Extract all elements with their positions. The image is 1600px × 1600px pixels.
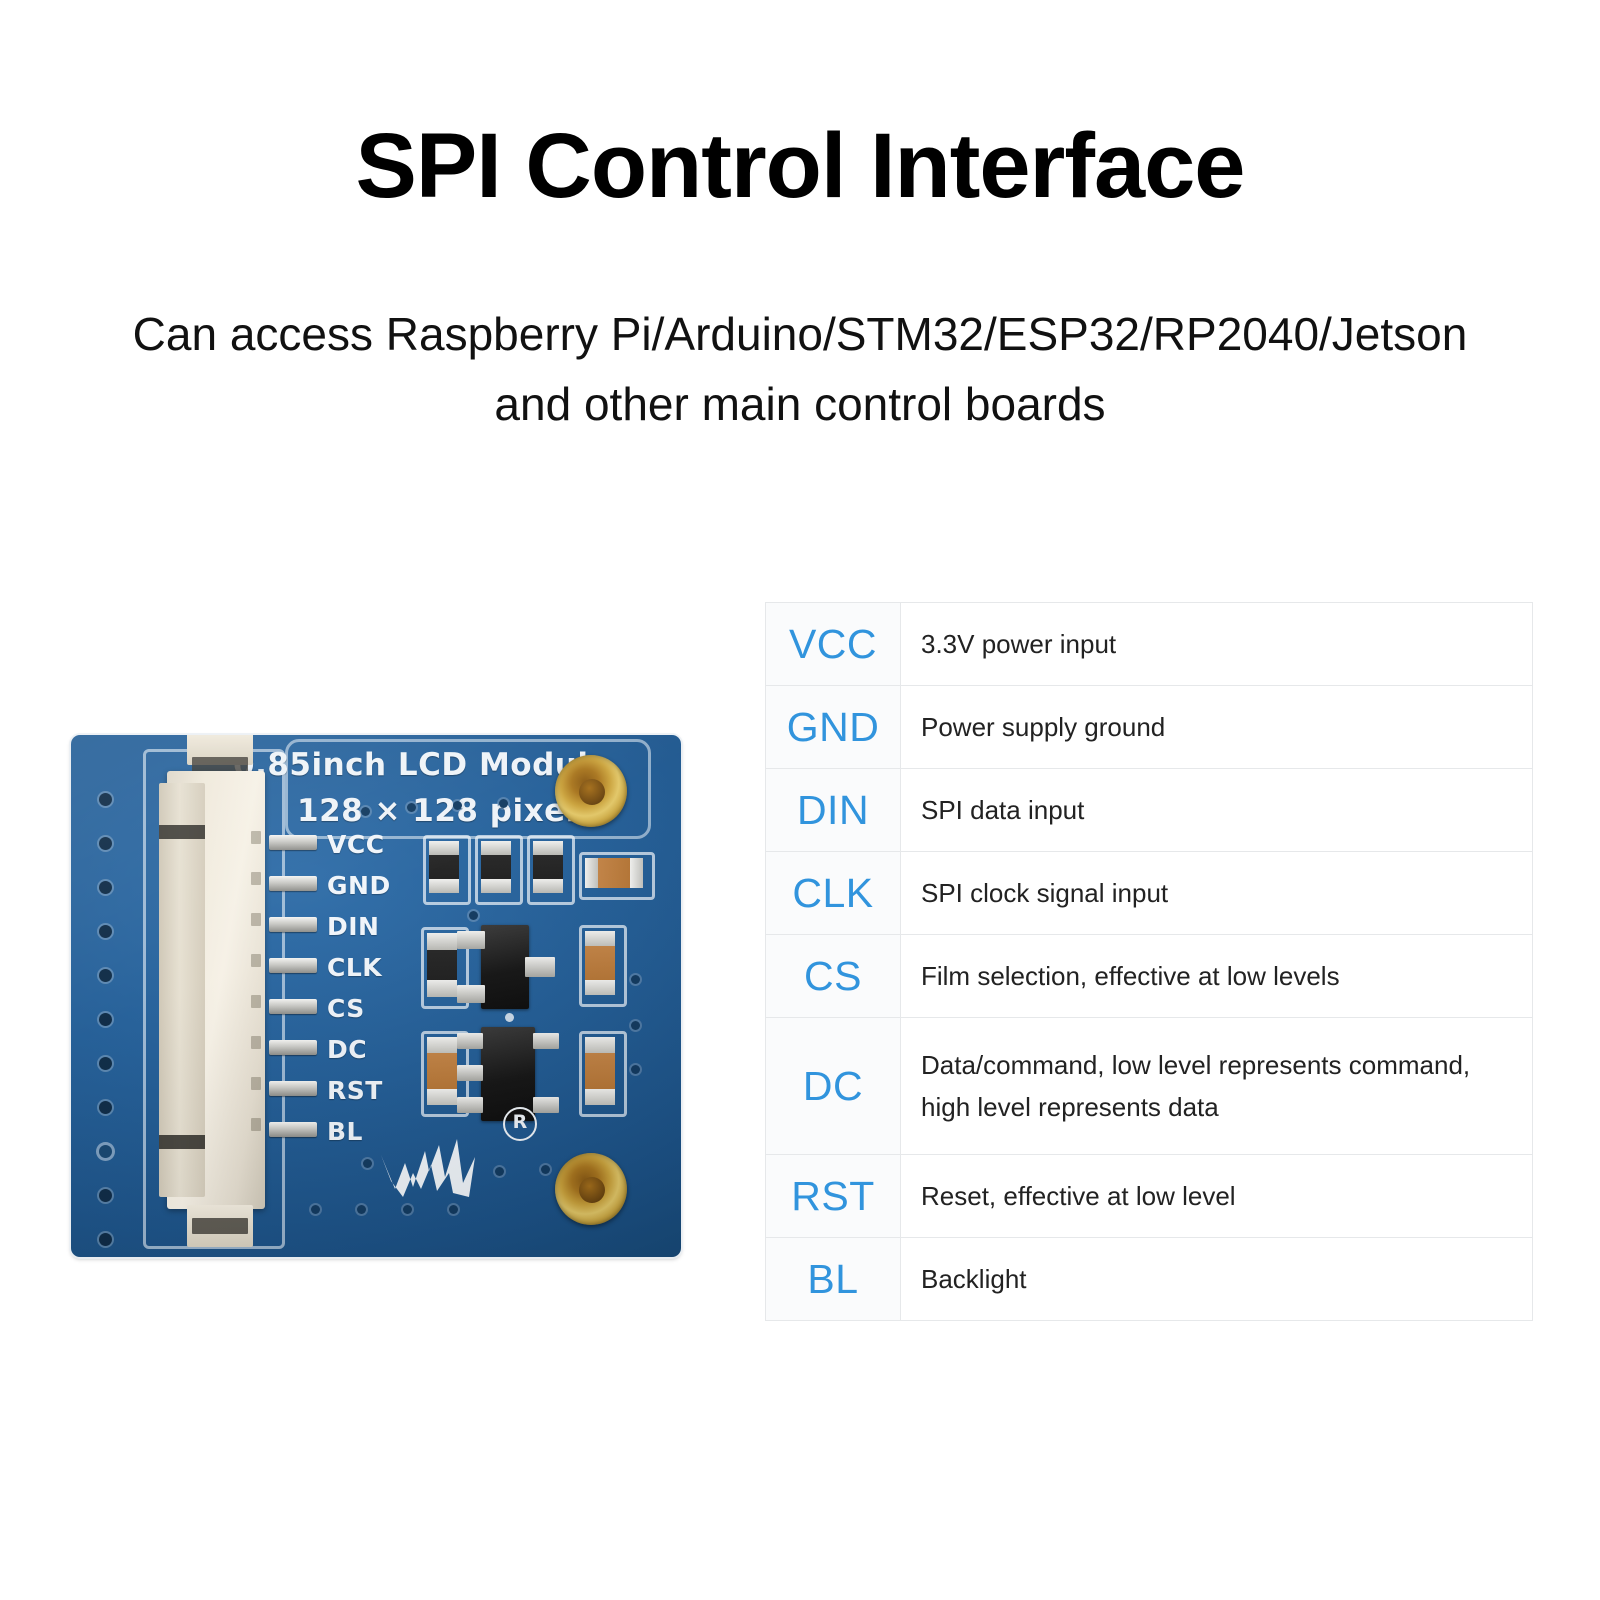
product-photo: 0.85inch LCD Module 128 × 128 pixels	[68, 727, 684, 1260]
pcb-pin-label-bl: BL	[327, 1117, 363, 1146]
small-via	[631, 1021, 640, 1030]
pin-description-table: VCC 3.3V power input GND Power supply gr…	[765, 602, 1533, 1321]
pin-desc-cell: Data/command, low level represents comma…	[901, 1018, 1533, 1155]
small-via	[469, 911, 478, 920]
pin-name-cell: RST	[766, 1155, 901, 1238]
pcb-pin-label-dc: DC	[327, 1035, 367, 1064]
silkscreen-resolution: 128 × 128 pixels	[297, 793, 596, 829]
smd-resistor	[533, 841, 563, 893]
mounting-hole-bottom-right	[555, 1153, 627, 1225]
transistor-pad	[457, 931, 485, 949]
fpc-slot	[251, 995, 261, 1008]
smd-capacitor	[585, 1037, 615, 1105]
table-row: VCC 3.3V power input	[766, 603, 1533, 686]
pin-name-cell: DC	[766, 1018, 901, 1155]
pin-name-cell: DIN	[766, 769, 901, 852]
silkscreen-module-name: 0.85inch LCD Module	[233, 747, 610, 783]
pcb-pin-label-cs: CS	[327, 994, 365, 1023]
test-point	[505, 1013, 514, 1022]
connector-pin-leg	[269, 958, 317, 973]
fpc-slot	[251, 872, 261, 885]
pin-name-cell: BL	[766, 1238, 901, 1321]
table-row: CLK SPI clock signal input	[766, 852, 1533, 935]
pin-desc-cell: Reset, effective at low level	[901, 1155, 1533, 1238]
table-row: DC Data/command, low level represents co…	[766, 1018, 1533, 1155]
registered-trademark-icon: R	[503, 1107, 537, 1141]
table-row: CS Film selection, effective at low leve…	[766, 935, 1533, 1018]
small-via	[363, 1159, 372, 1168]
connector-pin-leg	[269, 1122, 317, 1137]
smd-resistor-101	[427, 933, 457, 997]
smd-resistor	[481, 841, 511, 893]
fpc-notch-top	[159, 825, 205, 839]
pin-desc-cell: SPI data input	[901, 769, 1533, 852]
pin-table-body: VCC 3.3V power input GND Power supply gr…	[766, 603, 1533, 1321]
connector-pin-leg	[269, 876, 317, 891]
connector-pin-leg	[269, 1040, 317, 1055]
fpc-slot	[251, 954, 261, 967]
pcb-pin-label-gnd: GND	[327, 871, 391, 900]
page-subtitle: Can access Raspberry Pi/Arduino/STM32/ES…	[100, 300, 1500, 440]
ic-pad	[457, 1065, 483, 1081]
transistor-j3y	[481, 925, 529, 1009]
small-via	[357, 1205, 366, 1214]
smd-capacitor	[585, 858, 643, 888]
small-via	[403, 1205, 412, 1214]
fpc-slot	[251, 1118, 261, 1131]
small-via	[631, 975, 640, 984]
pin-name-cell: VCC	[766, 603, 901, 686]
transistor-pad	[457, 985, 485, 1003]
connector-pin-leg	[269, 1081, 317, 1096]
pin-name-cell: CS	[766, 935, 901, 1018]
page-title: SPI Control Interface	[0, 118, 1600, 215]
small-via	[541, 1165, 550, 1174]
mounting-hole-top-right	[555, 755, 627, 827]
small-via	[499, 799, 508, 808]
table-row: DIN SPI data input	[766, 769, 1533, 852]
connector-pin-leg	[269, 999, 317, 1014]
smd-capacitor	[585, 931, 615, 995]
fpc-notch-bottom	[159, 1135, 205, 1149]
pcb-pin-label-rst: RST	[327, 1076, 383, 1105]
waveshare-logo-icon	[379, 1131, 497, 1201]
small-via	[631, 1065, 640, 1074]
pin-desc-cell: 3.3V power input	[901, 603, 1533, 686]
pin-name-cell: CLK	[766, 852, 901, 935]
ic-pad	[533, 1097, 559, 1113]
regulator-ic	[481, 1027, 535, 1121]
pin-desc-cell: Power supply ground	[901, 686, 1533, 769]
table-row: RST Reset, effective at low level	[766, 1155, 1533, 1238]
pin-desc-cell: SPI clock signal input	[901, 852, 1533, 935]
pcb-board: 0.85inch LCD Module 128 × 128 pixels	[71, 735, 681, 1257]
small-via	[407, 803, 416, 812]
fpc-slot	[251, 831, 261, 844]
pcb-pin-label-clk: CLK	[327, 953, 382, 982]
smd-resistor	[429, 841, 459, 893]
ic-pad	[457, 1033, 483, 1049]
connector-pin-leg	[269, 835, 317, 850]
ic-pad	[457, 1097, 483, 1113]
fpc-bottom-tab-marking	[192, 1218, 248, 1234]
ic-pad	[533, 1033, 559, 1049]
pcb-pin-label-vcc: VCC	[327, 830, 385, 859]
fpc-slot	[251, 1077, 261, 1090]
small-via	[361, 807, 370, 816]
pin-desc-cell: Backlight	[901, 1238, 1533, 1321]
pin-desc-cell: Film selection, effective at low levels	[901, 935, 1533, 1018]
fpc-slot	[251, 1036, 261, 1049]
connector-pin-leg	[269, 917, 317, 932]
small-via	[449, 1205, 458, 1214]
pin-name-cell: GND	[766, 686, 901, 769]
fpc-slot	[251, 913, 261, 926]
small-via	[453, 801, 462, 810]
table-row: BL Backlight	[766, 1238, 1533, 1321]
pcb-pin-label-din: DIN	[327, 912, 379, 941]
transistor-pad	[525, 957, 555, 977]
table-row: GND Power supply ground	[766, 686, 1533, 769]
smd-capacitor	[427, 1037, 457, 1105]
small-via	[311, 1205, 320, 1214]
